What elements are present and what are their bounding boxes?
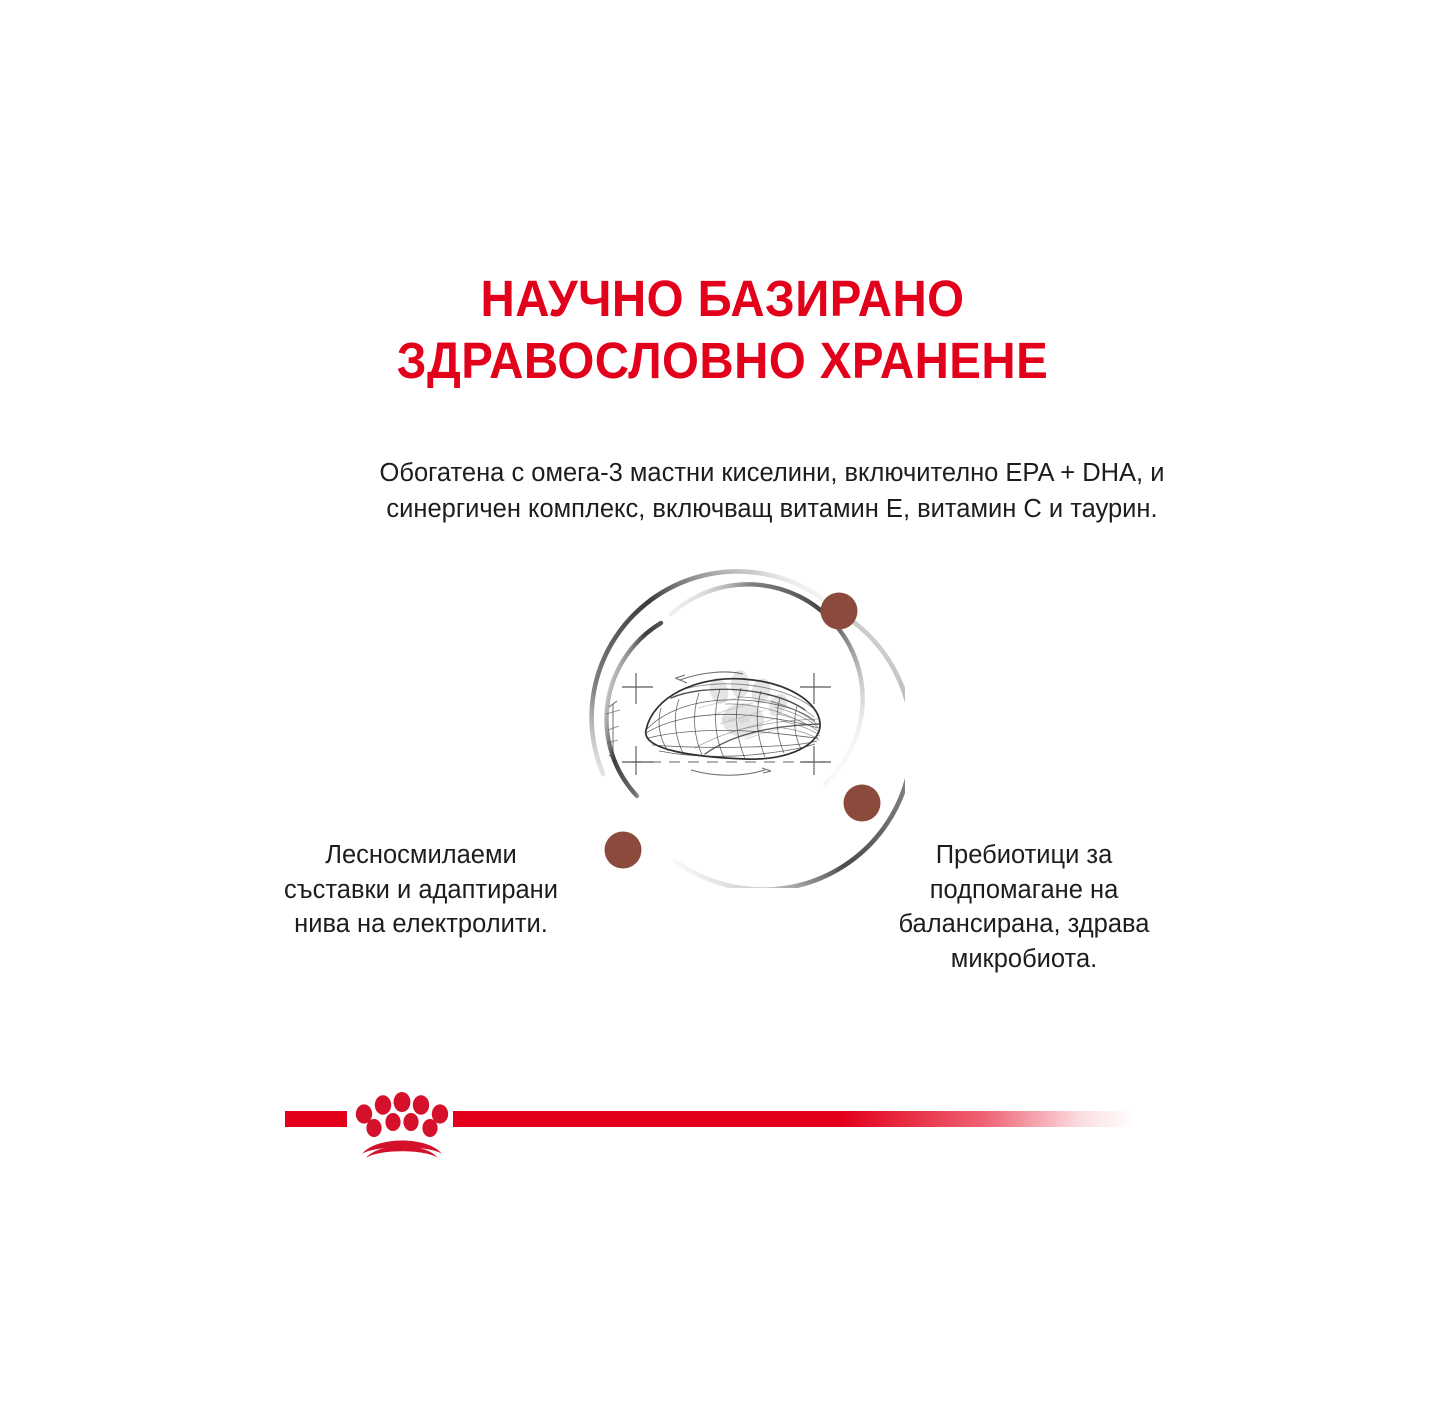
royal-canin-crown-icon	[350, 1092, 454, 1164]
diagram-dot-bottom-right	[844, 785, 881, 822]
feature-label-right: Пребиотици за подпомагане на балансирана…	[878, 838, 1170, 977]
kibble-circle-diagram: somagic	[575, 558, 905, 888]
page-title-line-1: НАУЧНО БАЗИРАНО	[51, 268, 1395, 330]
page-title: НАУЧНО БАЗИРАНО ЗДРАВОСЛОВНО ХРАНЕНЕ	[51, 268, 1395, 392]
page-title-line-2: ЗДРАВОСЛОВНО ХРАНЕНЕ	[51, 330, 1395, 392]
footer-brand-bar	[0, 1092, 1445, 1172]
diagram-dot-top	[821, 593, 858, 630]
footer-bar-left-segment	[285, 1111, 347, 1127]
feature-label-left: Лесносмилаеми съставки и адаптирани нива…	[275, 838, 567, 942]
infographic-page: НАУЧНО БАЗИРАНО ЗДРАВОСЛОВНО ХРАНЕНЕ Обо…	[0, 0, 1445, 1420]
intro-paragraph: Обогатена с омега-3 мастни киселини, вкл…	[372, 455, 1172, 527]
diagram-dot-bottom-left	[605, 832, 642, 869]
watermark-text: somagic	[721, 714, 751, 724]
footer-bar-right-segment	[453, 1111, 1135, 1127]
